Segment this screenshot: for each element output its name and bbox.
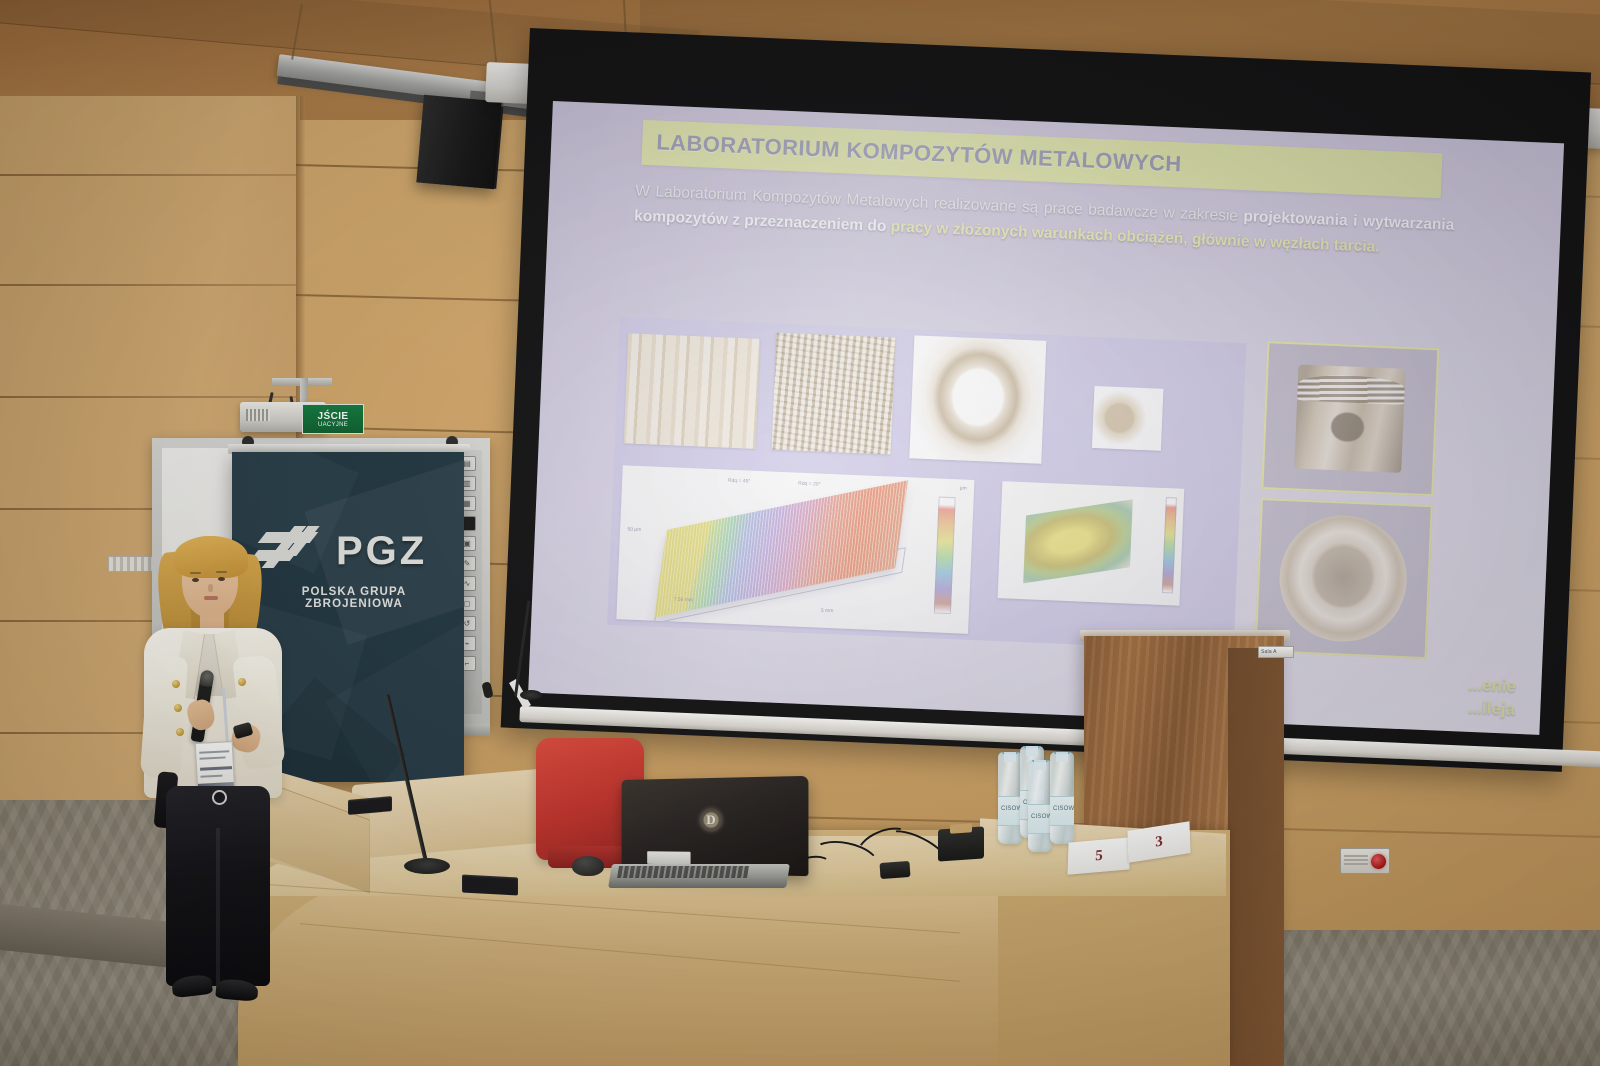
emergency-exit-sign: JŚCIE UACYJNE [302,404,364,434]
presenter-hair-front [174,536,248,578]
table-card-label: 3 [1155,833,1163,851]
emergency-button-icon[interactable] [1371,854,1386,869]
desk-microphone-base [404,858,450,874]
slide-footer-line1: ...enie [1467,674,1516,699]
laptop-lid[interactable] [622,776,809,876]
wall-speaker [416,95,501,189]
secondary-microphone-base [520,690,542,700]
plot-label-y: 5 mm [821,608,834,615]
surface-map-small-plot [997,481,1184,605]
podium-plate-text: Sala A [1261,649,1277,655]
exit-sign-line1: JŚCIE [318,411,349,422]
thumbnail-rough-surface-micrograph [771,333,895,455]
computer-mouse[interactable] [572,856,604,876]
jacket-button [238,678,246,686]
presenter-mouth [204,596,218,600]
table-card[interactable]: 5 [1067,837,1130,875]
pgz-wordmark: PGZ [336,531,427,571]
dell-logo-icon [699,808,723,832]
slide-body-line2-plain: zakresie [1180,205,1244,225]
jacket-button [174,704,182,712]
presenter [120,528,300,1008]
belt-buckle [212,790,227,805]
laptop-sticker [647,851,690,864]
plot-small-colorbar [1162,497,1177,593]
water-bottle[interactable]: CISOWIANKA [1050,752,1074,844]
socket-switch-icon[interactable] [1344,855,1368,867]
bottle-label: CISOWIANKA [1028,804,1052,834]
presenter-eye [218,577,225,581]
slide-footer-line2: ...lleja [1466,697,1515,722]
plot-label-annot-2: Rdq = 20° [798,480,821,487]
thumbnail-fiber-micrograph [624,333,760,449]
power-adapter [879,861,910,879]
projection-screen-frame: LABORATORIUM KOMPOZYTÓW METALOWYCH W Lab… [501,28,1591,772]
jacket-button [176,728,184,736]
wall-control-panel[interactable] [1340,848,1390,874]
plot-colorbar [933,497,955,615]
slide-footer-text: ...enie ...lleja [1466,674,1516,722]
presenter-eye [192,578,199,582]
plot-colorbar-unit: µm [960,485,967,491]
piston-image [1294,365,1406,473]
podium-name-plate: Sala A [1258,646,1294,658]
slide-title: LABORATORIUM KOMPOZYTÓW METALOWYCH [642,129,1182,178]
desk-cable-grommet [462,875,518,896]
jacket-button [172,680,180,688]
presentation-photo-scene: LABORATORIUM KOMPOZYTÓW METALOWYCH W Lab… [0,0,1600,1066]
water-bottle[interactable]: CISOWIANKA [1028,760,1052,852]
slide-image-panel: 50 µm Rdq = 45° Rdq = 20° 7.56 mm 5 mm µ… [607,317,1247,651]
water-bottle[interactable]: CISOWIANKA [998,752,1022,844]
podium-side-panel [1228,648,1284,1066]
exit-sign-line2: UACYJNE [318,422,348,428]
laptop-keyboard[interactable] [617,866,749,878]
plot-label-annot-1: Rdq = 45° [728,477,751,484]
table-card-label: 5 [1095,847,1103,865]
bearing-image [1277,513,1410,644]
presenter-arm-left [140,655,188,779]
projector-vent [246,409,270,421]
bottle-label: CISOWIANKA [998,796,1022,826]
surface-topography-plot: 50 µm Rdq = 45° Rdq = 20° 7.56 mm 5 mm µ… [617,465,974,633]
slide: LABORATORIUM KOMPOZYTÓW METALOWYCH W Lab… [528,101,1564,735]
projection-screen-surface: LABORATORIUM KOMPOZYTÓW METALOWYCH W Lab… [528,101,1564,735]
plot-label-x: 7.56 mm [674,597,694,604]
plot-label-z: 50 µm [627,527,641,534]
bottle-label: CISOWIANKA [1050,796,1074,826]
thumbnail-bore-ring-cross-section [909,336,1046,465]
highlight-piston-photo [1261,341,1439,496]
presenter-nose [208,584,213,592]
device-stand [938,826,984,861]
thumbnail-specimen-detail [1092,386,1164,450]
